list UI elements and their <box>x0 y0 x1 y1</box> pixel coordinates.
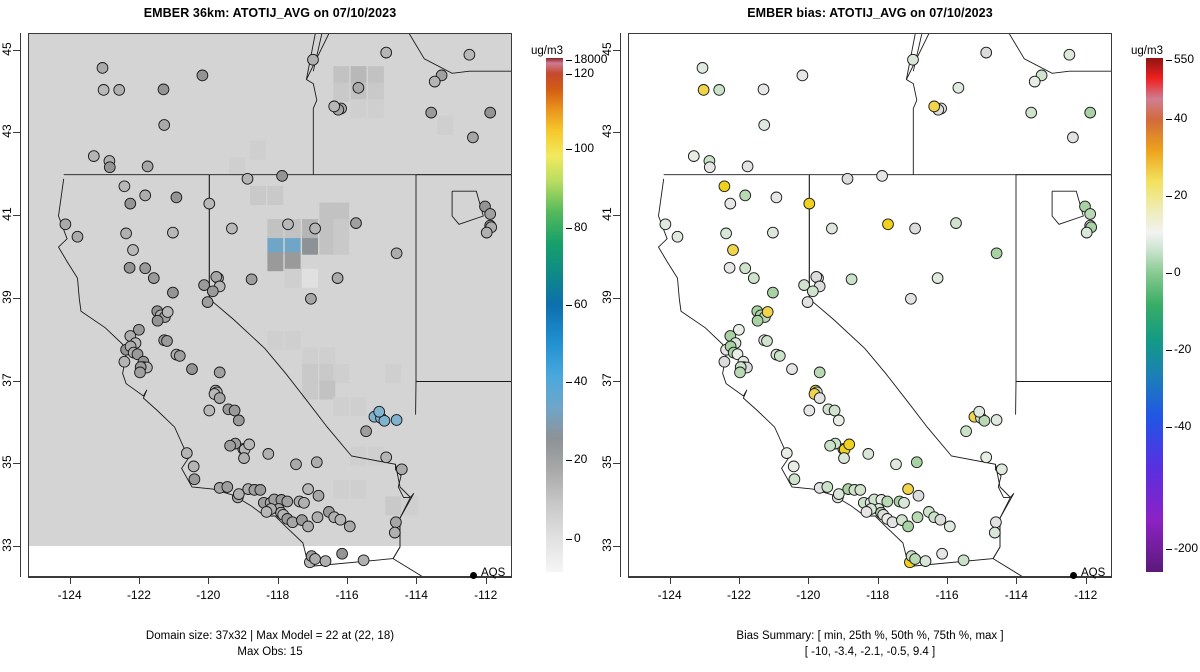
raster-cell <box>368 83 384 102</box>
obs-marker[interactable] <box>351 218 362 229</box>
raster-cell <box>437 116 453 135</box>
obs-marker[interactable] <box>189 474 200 485</box>
raster-cell <box>385 364 401 383</box>
obs-marker[interactable] <box>197 70 208 81</box>
x-tick <box>278 577 279 584</box>
colorbar-tick <box>566 460 572 461</box>
obs-marker[interactable] <box>135 367 146 378</box>
colorbar-units-bias: ug/m3 <box>1131 45 1163 57</box>
y-tick-label: 43 <box>0 111 14 151</box>
obs-marker[interactable] <box>374 406 385 417</box>
bias-marker[interactable] <box>768 227 779 238</box>
bias-marker[interactable] <box>742 161 753 172</box>
obs-marker[interactable] <box>222 482 233 493</box>
caption-bias-header: Bias Summary: [ min, 25th %, 50th %, 75t… <box>600 630 1140 642</box>
bias-marker[interactable] <box>688 151 699 162</box>
bias-marker[interactable] <box>903 521 914 532</box>
x-tick <box>878 577 879 584</box>
obs-marker[interactable] <box>225 440 236 451</box>
y-tick <box>13 298 20 299</box>
y-tick-label: 35 <box>600 442 614 482</box>
bias-marker[interactable] <box>1081 227 1092 238</box>
bias-marker[interactable] <box>961 426 972 437</box>
colorbar-tick <box>566 382 572 383</box>
raster-cell <box>319 236 335 255</box>
bias-marker[interactable] <box>788 461 799 472</box>
raster-cell <box>333 364 349 383</box>
bias-marker[interactable] <box>911 457 922 468</box>
obs-marker[interactable] <box>381 47 392 58</box>
caption-bias-values: [ -10, -3.4, -2.1, -0.5, 9.4 ] <box>600 646 1140 658</box>
colorbar-tick-label: 40 <box>1174 111 1187 125</box>
raster-cell <box>229 157 245 176</box>
raster-cell <box>333 66 349 85</box>
bias-marker[interactable] <box>1085 107 1096 118</box>
bias-marker[interactable] <box>846 274 857 285</box>
raster-cell <box>333 219 349 238</box>
colorbar-tick-label: 0 <box>1174 265 1181 279</box>
raster-cell <box>302 269 318 288</box>
obs-marker[interactable] <box>233 415 244 426</box>
y-tick <box>613 215 620 216</box>
caption-max-obs: Max Obs: 15 <box>0 646 540 658</box>
colorbar-tick <box>566 228 572 229</box>
obs-marker[interactable] <box>358 555 369 566</box>
obs-marker[interactable] <box>97 63 108 74</box>
obs-marker[interactable] <box>287 517 298 528</box>
colorbar-tick <box>566 539 572 540</box>
obs-marker[interactable] <box>148 273 159 284</box>
obs-marker[interactable] <box>291 459 302 470</box>
obs-marker[interactable] <box>168 227 179 238</box>
model-map-svg <box>29 34 511 576</box>
obs-marker[interactable] <box>242 173 253 184</box>
colorbar-tick <box>1166 273 1172 274</box>
bias-marker[interactable] <box>829 405 840 416</box>
obs-marker[interactable] <box>344 521 355 532</box>
obs-marker[interactable] <box>320 556 331 567</box>
bias-marker[interactable] <box>899 497 910 508</box>
y-tick-label: 43 <box>600 111 614 151</box>
x-tick-label: -124 <box>48 588 92 602</box>
colorbar-bias[interactable] <box>1146 58 1163 572</box>
obs-marker[interactable] <box>125 198 136 209</box>
map-plot-model[interactable] <box>28 33 512 577</box>
obs-marker[interactable] <box>361 426 372 437</box>
bias-marker[interactable] <box>839 453 850 464</box>
bias-marker[interactable] <box>887 517 898 528</box>
y-tick-label: 41 <box>600 194 614 234</box>
bias-marker[interactable] <box>929 101 940 112</box>
bias-marker[interactable] <box>910 554 921 565</box>
aqs-legend-label: AQS <box>481 567 505 579</box>
x-tick <box>739 577 740 584</box>
raster-cell <box>267 331 283 350</box>
raster-cell <box>285 331 301 350</box>
y-tick <box>13 463 20 464</box>
bias-marker[interactable] <box>913 490 924 501</box>
bias-marker[interactable] <box>953 82 964 93</box>
obs-marker[interactable] <box>481 227 492 238</box>
obs-marker[interactable] <box>114 85 125 96</box>
obs-marker[interactable] <box>335 514 346 525</box>
raster-cell <box>351 480 367 499</box>
x-tick <box>416 577 417 584</box>
bias-marker[interactable] <box>781 448 792 459</box>
bias-marker[interactable] <box>740 190 751 201</box>
raster-cell <box>267 186 283 205</box>
obs-marker[interactable] <box>171 192 182 203</box>
bias-marker[interactable] <box>877 171 888 182</box>
colorbar-tick <box>1166 350 1172 351</box>
obs-marker[interactable] <box>181 448 192 459</box>
colorbar-tick-label: -40 <box>1174 419 1191 433</box>
raster-cell <box>368 66 384 85</box>
bias-marker[interactable] <box>991 415 1002 426</box>
x-tick-label: -116 <box>925 588 969 602</box>
bias-marker[interactable] <box>660 219 671 230</box>
bias-marker[interactable] <box>1026 107 1037 118</box>
colorbar-tick-label: 20 <box>574 452 587 466</box>
obs-marker[interactable] <box>277 171 288 182</box>
map-background <box>629 34 1111 576</box>
aqs-legend-dot <box>470 572 477 579</box>
bias-marker[interactable] <box>842 173 853 184</box>
raster-background <box>29 34 511 546</box>
obs-marker[interactable] <box>283 219 294 230</box>
bias-marker[interactable] <box>991 248 1002 259</box>
obs-marker[interactable] <box>142 161 153 172</box>
obs-marker[interactable] <box>299 497 310 508</box>
bias-marker[interactable] <box>932 273 943 284</box>
y-tick-label: 39 <box>0 277 14 317</box>
y-tick <box>13 381 20 382</box>
obs-marker[interactable] <box>98 85 109 96</box>
obs-marker[interactable] <box>308 54 319 65</box>
bias-marker[interactable] <box>721 228 732 239</box>
raster-cell <box>267 236 283 255</box>
bias-marker[interactable] <box>724 262 735 273</box>
obs-marker[interactable] <box>313 490 324 501</box>
y-tick <box>13 50 20 51</box>
x-tick-label: -114 <box>394 588 438 602</box>
y-tick <box>613 463 620 464</box>
bias-marker[interactable] <box>698 85 709 96</box>
x-tick-label: -112 <box>464 588 508 602</box>
obs-marker[interactable] <box>239 453 250 464</box>
obs-marker[interactable] <box>168 287 179 298</box>
bias-marker[interactable] <box>989 527 1000 538</box>
y-axis-line-model <box>20 33 21 577</box>
colorbar-tick-label: -20 <box>1174 342 1191 356</box>
raster-cell <box>351 397 367 416</box>
bias-marker[interactable] <box>704 162 715 173</box>
bias-marker[interactable] <box>752 315 763 326</box>
bias-marker[interactable] <box>991 517 1002 528</box>
obs-marker[interactable] <box>233 489 244 500</box>
raster-cell <box>285 269 301 288</box>
bias-marker[interactable] <box>1029 76 1040 87</box>
colorbar-tick <box>1166 549 1172 550</box>
obs-marker[interactable] <box>396 464 407 475</box>
obs-marker[interactable] <box>134 324 145 335</box>
bias-marker[interactable] <box>827 223 838 234</box>
obs-marker[interactable] <box>204 405 215 416</box>
bias-marker[interactable] <box>861 507 872 518</box>
bias-marker[interactable] <box>758 84 769 95</box>
x-tick-label: -122 <box>717 588 761 602</box>
y-tick-label: 39 <box>600 277 614 317</box>
y-axis-line-bias <box>620 33 621 577</box>
x-tick <box>208 577 209 584</box>
obs-marker[interactable] <box>119 356 130 367</box>
bias-marker[interactable] <box>748 273 759 284</box>
obs-marker[interactable] <box>162 307 173 318</box>
colorbar-tick <box>566 60 572 61</box>
bias-marker[interactable] <box>728 245 739 256</box>
colorbar-units-model: ug/m3 <box>531 45 563 57</box>
x-tick <box>1016 577 1017 584</box>
raster-cell <box>302 236 318 255</box>
colorbar-tick <box>1166 119 1172 120</box>
x-tick <box>947 577 948 584</box>
obs-marker[interactable] <box>485 107 496 118</box>
obs-marker[interactable] <box>282 496 293 507</box>
bias-marker[interactable] <box>697 63 708 74</box>
bias-marker[interactable] <box>804 198 815 209</box>
obs-marker[interactable] <box>468 132 479 143</box>
colorbar-tick-label: 100 <box>574 141 594 155</box>
bias-marker[interactable] <box>833 415 844 426</box>
obs-marker[interactable] <box>124 262 135 273</box>
bias-marker[interactable] <box>883 219 894 230</box>
bias-marker[interactable] <box>951 218 962 229</box>
bias-marker[interactable] <box>734 324 745 335</box>
raster-cell <box>302 364 318 383</box>
obs-marker[interactable] <box>88 151 99 162</box>
colorbar-model[interactable] <box>546 58 563 572</box>
bias-marker[interactable] <box>735 367 746 378</box>
bias-marker[interactable] <box>908 54 919 65</box>
bias-marker[interactable] <box>903 484 914 495</box>
bias-marker[interactable] <box>787 364 798 375</box>
obs-marker[interactable] <box>158 84 169 95</box>
bias-marker[interactable] <box>768 287 779 298</box>
y-tick <box>13 546 20 547</box>
obs-marker[interactable] <box>391 248 402 259</box>
bias-marker[interactable] <box>719 356 730 367</box>
raster-cell <box>285 236 301 255</box>
y-tick-label: 45 <box>0 29 14 69</box>
obs-marker[interactable] <box>121 228 132 239</box>
obs-marker[interactable] <box>72 231 83 242</box>
obs-marker[interactable] <box>174 351 185 362</box>
obs-marker[interactable] <box>311 457 322 468</box>
colorbar-tick-label: -200 <box>1174 541 1198 555</box>
obs-marker[interactable] <box>214 367 225 378</box>
obs-marker[interactable] <box>128 245 139 256</box>
obs-marker[interactable] <box>246 274 257 285</box>
obs-marker[interactable] <box>227 223 238 234</box>
caption-domain-size: Domain size: 37x32 | Max Model = 22 at (… <box>0 630 540 642</box>
bias-marker[interactable] <box>774 351 785 362</box>
colorbar-tick <box>1166 427 1172 428</box>
bias-marker[interactable] <box>719 181 730 192</box>
bias-marker[interactable] <box>1085 209 1096 220</box>
bias-marker[interactable] <box>771 192 782 203</box>
x-tick-label: -118 <box>856 588 900 602</box>
obs-marker[interactable] <box>391 415 402 426</box>
colorbar-tick-label: 60 <box>574 297 587 311</box>
bias-marker[interactable] <box>844 439 855 450</box>
obs-marker[interactable] <box>214 393 225 404</box>
bias-marker[interactable] <box>935 514 946 525</box>
obs-marker[interactable] <box>204 198 215 209</box>
bias-map-svg <box>629 34 1111 576</box>
aqs-legend-dot <box>1070 572 1077 579</box>
bias-marker[interactable] <box>789 474 800 485</box>
raster-cell <box>319 364 335 383</box>
x-tick-label: -120 <box>186 588 230 602</box>
obs-marker[interactable] <box>261 507 272 518</box>
x-tick-label: -114 <box>994 588 1038 602</box>
bias-marker[interactable] <box>814 367 825 378</box>
obs-marker[interactable] <box>381 452 392 463</box>
obs-marker[interactable] <box>202 297 213 308</box>
x-tick-label: -124 <box>648 588 692 602</box>
map-plot-bias[interactable] <box>628 33 1112 577</box>
aqs-legend-label: AQS <box>1081 567 1105 579</box>
obs-marker[interactable] <box>162 336 173 347</box>
bias-marker[interactable] <box>762 336 773 347</box>
obs-marker[interactable] <box>485 209 496 220</box>
bias-marker[interactable] <box>981 47 992 58</box>
bias-marker[interactable] <box>910 223 921 234</box>
obs-marker[interactable] <box>152 315 163 326</box>
bias-marker[interactable] <box>891 459 902 470</box>
obs-marker[interactable] <box>119 181 130 192</box>
bias-marker[interactable] <box>958 555 969 566</box>
raster-cell <box>333 236 349 255</box>
obs-marker[interactable] <box>104 162 115 173</box>
y-tick <box>13 215 20 216</box>
obs-marker[interactable] <box>429 76 440 87</box>
bias-marker[interactable] <box>906 293 917 304</box>
obs-marker[interactable] <box>310 554 321 565</box>
obs-marker[interactable] <box>263 449 274 460</box>
colorbar-tick-label: 20 <box>1174 188 1187 202</box>
colorbar-tick-label: 40 <box>574 374 587 388</box>
x-tick-label: -116 <box>325 588 369 602</box>
raster-cell <box>333 397 349 416</box>
obs-marker[interactable] <box>303 521 314 532</box>
bias-marker[interactable] <box>802 297 813 308</box>
obs-marker[interactable] <box>207 286 218 297</box>
x-tick <box>139 577 140 584</box>
y-tick-label: 35 <box>0 442 14 482</box>
bias-marker[interactable] <box>725 198 736 209</box>
bias-marker[interactable] <box>825 440 836 451</box>
bias-marker[interactable] <box>912 512 923 523</box>
y-tick <box>613 381 620 382</box>
obs-marker[interactable] <box>303 484 314 495</box>
obs-marker[interactable] <box>391 517 402 528</box>
raster-cell <box>333 83 349 102</box>
colorbar-tick <box>1166 60 1172 61</box>
bias-marker[interactable] <box>996 464 1007 475</box>
obs-marker[interactable] <box>159 120 170 131</box>
obs-marker[interactable] <box>255 485 266 496</box>
obs-marker[interactable] <box>464 49 475 60</box>
bias-marker[interactable] <box>1064 49 1075 60</box>
page-title-bias: EMBER bias: ATOTIJ_AVG on 07/10/2023 <box>600 6 1140 20</box>
y-tick <box>613 546 620 547</box>
y-tick-label: 37 <box>0 360 14 400</box>
bias-marker[interactable] <box>882 496 893 507</box>
bias-marker[interactable] <box>762 307 773 318</box>
y-tick <box>13 132 20 133</box>
bias-marker[interactable] <box>804 405 815 416</box>
raster-cell <box>333 203 349 222</box>
obs-marker[interactable] <box>389 527 400 538</box>
obs-marker[interactable] <box>332 273 343 284</box>
obs-marker[interactable] <box>353 82 364 93</box>
raster-cell <box>267 252 283 271</box>
bias-marker[interactable] <box>797 70 808 81</box>
bias-marker[interactable] <box>944 521 955 532</box>
obs-marker[interactable] <box>337 548 348 559</box>
bias-marker[interactable] <box>807 286 818 297</box>
bias-marker[interactable] <box>920 556 931 567</box>
obs-marker[interactable] <box>306 293 317 304</box>
bias-marker[interactable] <box>981 452 992 463</box>
bias-marker[interactable] <box>714 85 725 96</box>
obs-marker[interactable] <box>244 439 255 450</box>
bias-marker[interactable] <box>814 393 825 404</box>
panel-model: EMBER 36km: ATOTIJ_AVG on 07/10/2023 -12… <box>0 0 600 672</box>
bias-marker[interactable] <box>822 482 833 493</box>
bias-marker[interactable] <box>974 406 985 417</box>
obs-marker[interactable] <box>312 512 323 523</box>
bias-marker[interactable] <box>855 485 866 496</box>
page-title-model: EMBER 36km: ATOTIJ_AVG on 07/10/2023 <box>0 6 540 20</box>
colorbar-tick-label: 550 <box>1174 52 1194 66</box>
obs-marker[interactable] <box>187 364 198 375</box>
raster-cell <box>351 99 367 118</box>
bias-marker[interactable] <box>863 449 874 460</box>
bias-marker[interactable] <box>740 263 751 274</box>
obs-marker[interactable] <box>329 101 340 112</box>
bias-marker[interactable] <box>759 120 770 131</box>
bias-marker[interactable] <box>1068 132 1079 143</box>
y-tick-label: 33 <box>600 525 614 565</box>
obs-marker[interactable] <box>140 263 151 274</box>
obs-marker[interactable] <box>426 107 437 118</box>
obs-marker[interactable] <box>310 223 321 234</box>
obs-marker[interactable] <box>229 405 240 416</box>
panel-bias: EMBER bias: ATOTIJ_AVG on 07/10/2023 -12… <box>600 0 1200 672</box>
obs-marker[interactable] <box>140 190 151 201</box>
bias-marker[interactable] <box>672 231 683 242</box>
raster-cell <box>319 203 335 222</box>
bias-marker[interactable] <box>833 489 844 500</box>
bias-marker[interactable] <box>937 548 948 559</box>
obs-marker[interactable] <box>60 219 71 230</box>
colorbar-tick-label: 120 <box>574 66 594 80</box>
raster-cell <box>250 141 266 160</box>
x-tick-label: -118 <box>256 588 300 602</box>
obs-marker[interactable] <box>188 461 199 472</box>
